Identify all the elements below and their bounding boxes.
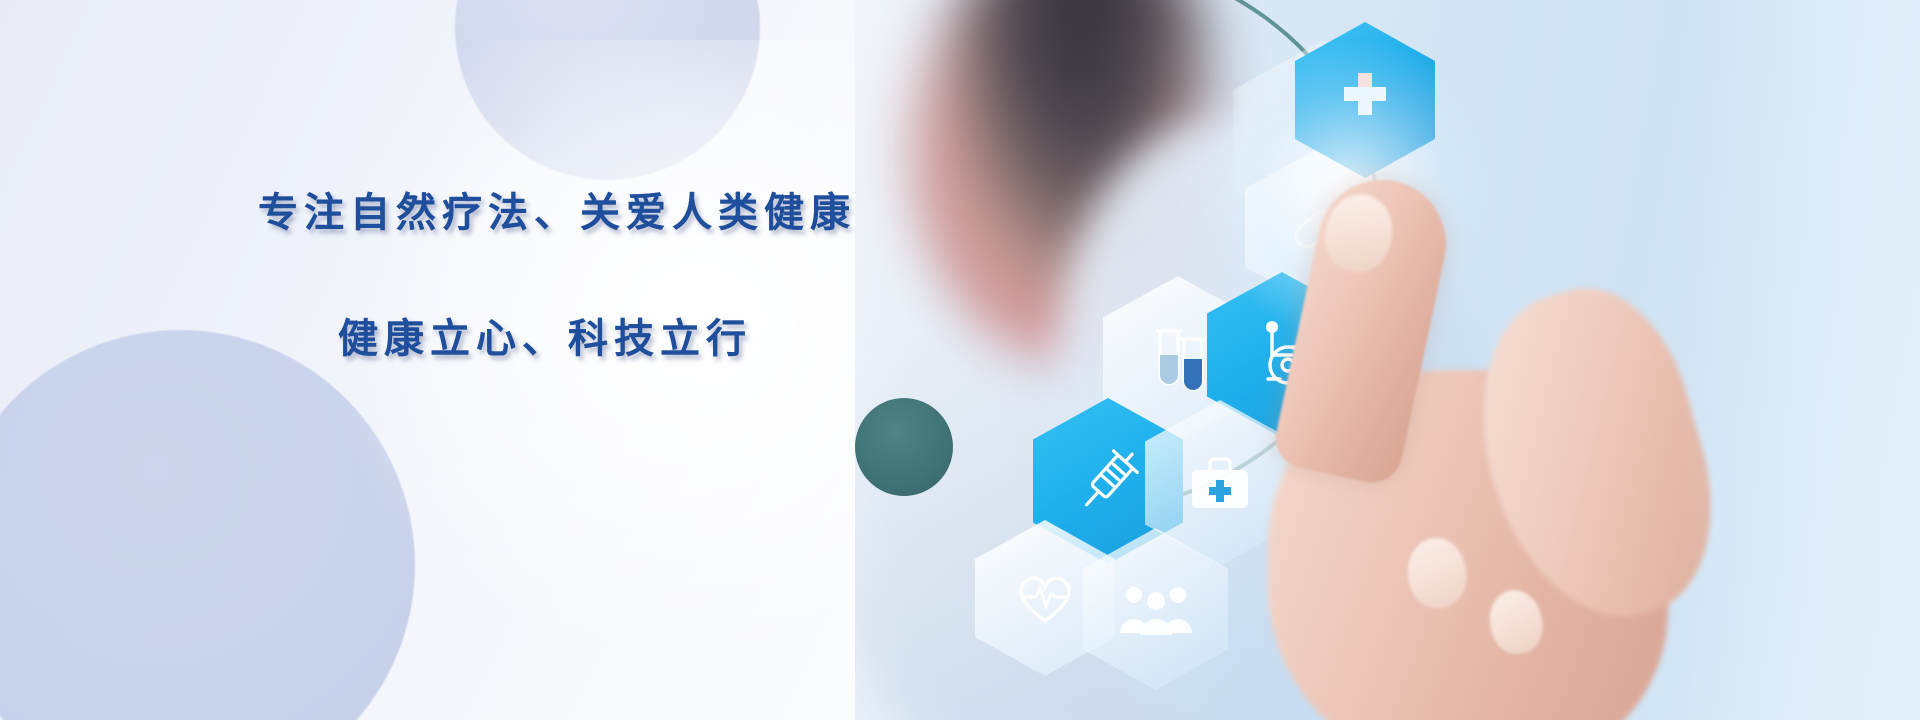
doctor-photo-panel [855, 0, 1920, 720]
headline-block: 专注自然疗法、关爱人类健康 健康立心、科技立行 [0, 180, 860, 364]
test-tubes-icon [1140, 319, 1216, 399]
soft-lavender-circle-top [455, 0, 760, 180]
headline-line-2: 健康立心、科技立行 [338, 306, 860, 364]
soft-lavender-circle-bottom [0, 330, 415, 720]
headline-line-1: 专注自然疗法、关爱人类健康 [258, 180, 860, 238]
pointing-hand [1240, 120, 1840, 720]
heart-icon [1012, 567, 1078, 629]
health-banner: 专注自然疗法、关爱人类健康 健康立心、科技立行 [0, 0, 1920, 720]
family-group-icon [1116, 579, 1196, 639]
syringe-icon [1068, 441, 1148, 521]
